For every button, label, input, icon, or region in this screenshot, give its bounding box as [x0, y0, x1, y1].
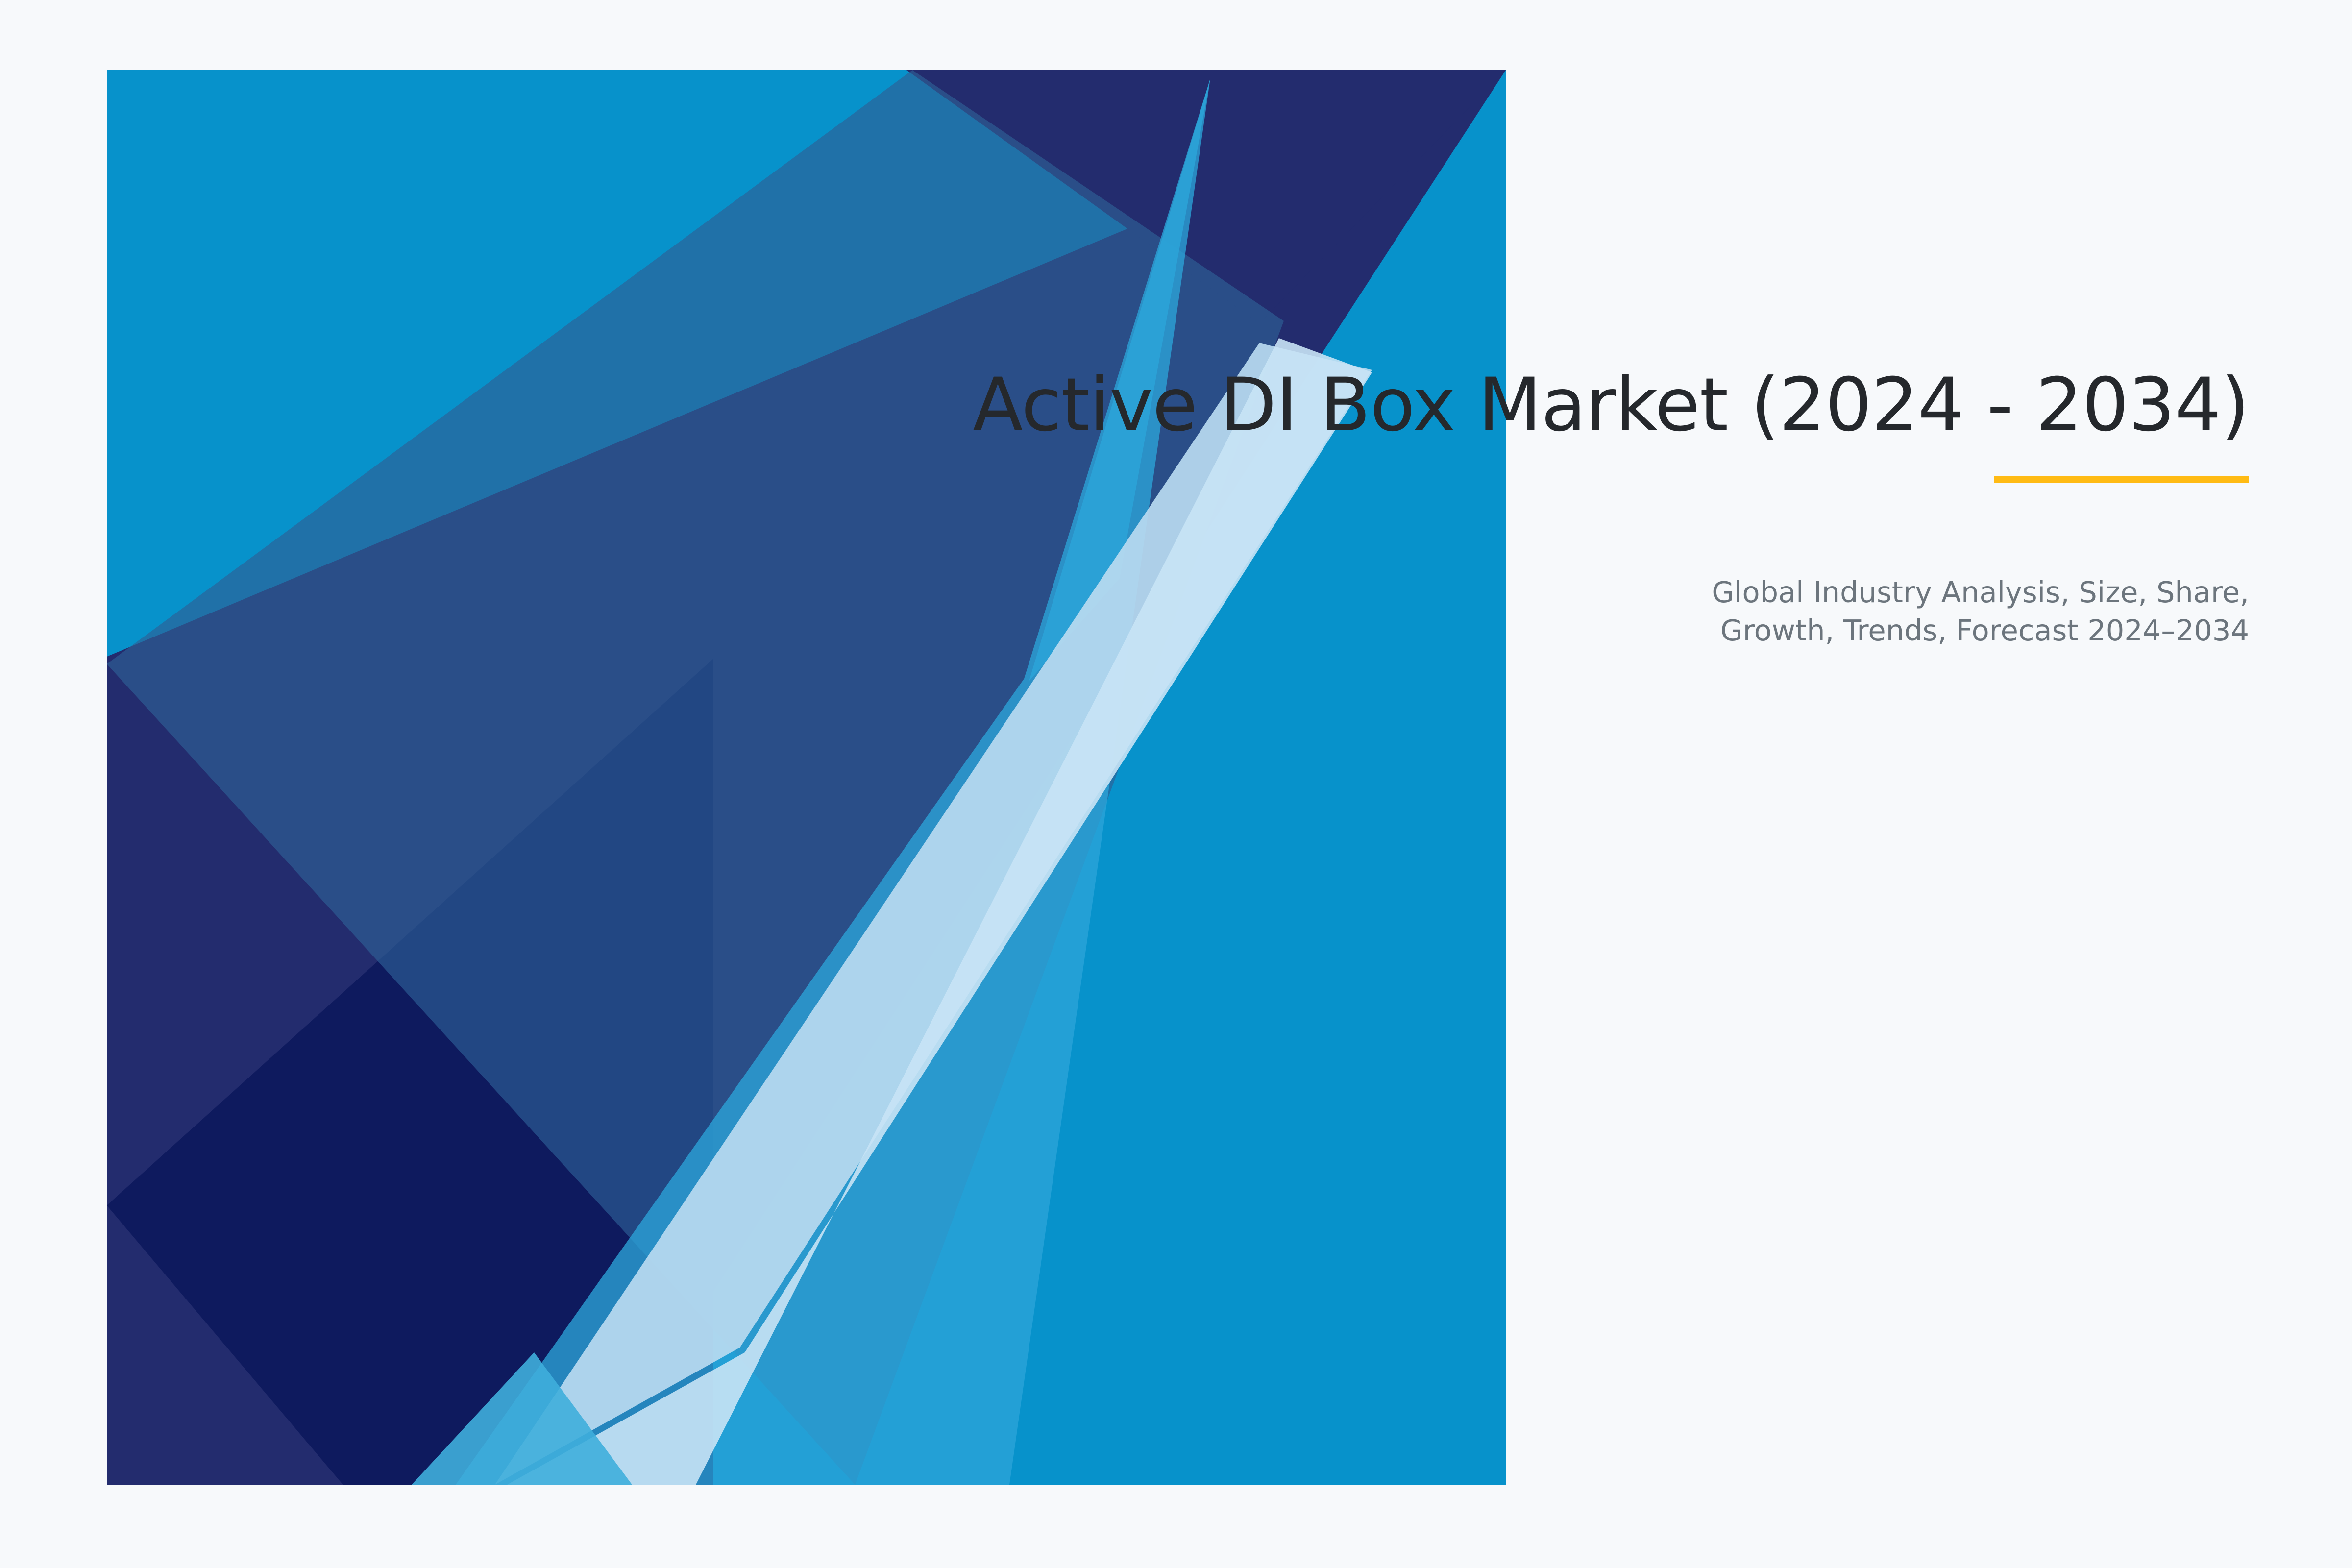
- shape-navy-sweep: [107, 70, 1506, 1485]
- title-rule-container: [779, 476, 2249, 483]
- title-block: Active DI Box Market (2024 - 2034) Globa…: [779, 363, 2249, 650]
- shape-sky-band: [456, 78, 1210, 1485]
- cover-slide: Active DI Box Market (2024 - 2034) Globa…: [0, 0, 2352, 1568]
- page-title: Active DI Box Market (2024 - 2034): [779, 363, 2249, 448]
- shape-bottom-cyan-foot: [412, 1352, 632, 1485]
- abstract-polygon-artwork: [0, 0, 2352, 1568]
- page-subtitle: Global Industry Analysis, Size, Share, G…: [1622, 573, 2249, 650]
- shape-slate-quad: [107, 70, 1284, 1485]
- title-accent-rule: [1994, 476, 2249, 483]
- shape-navy-triangle-top: [906, 70, 1506, 323]
- shape-deep-navy-spike: [412, 659, 713, 1485]
- shape-deep-navy-wedge: [107, 659, 713, 1485]
- shape-cyan-block: [107, 70, 1506, 1485]
